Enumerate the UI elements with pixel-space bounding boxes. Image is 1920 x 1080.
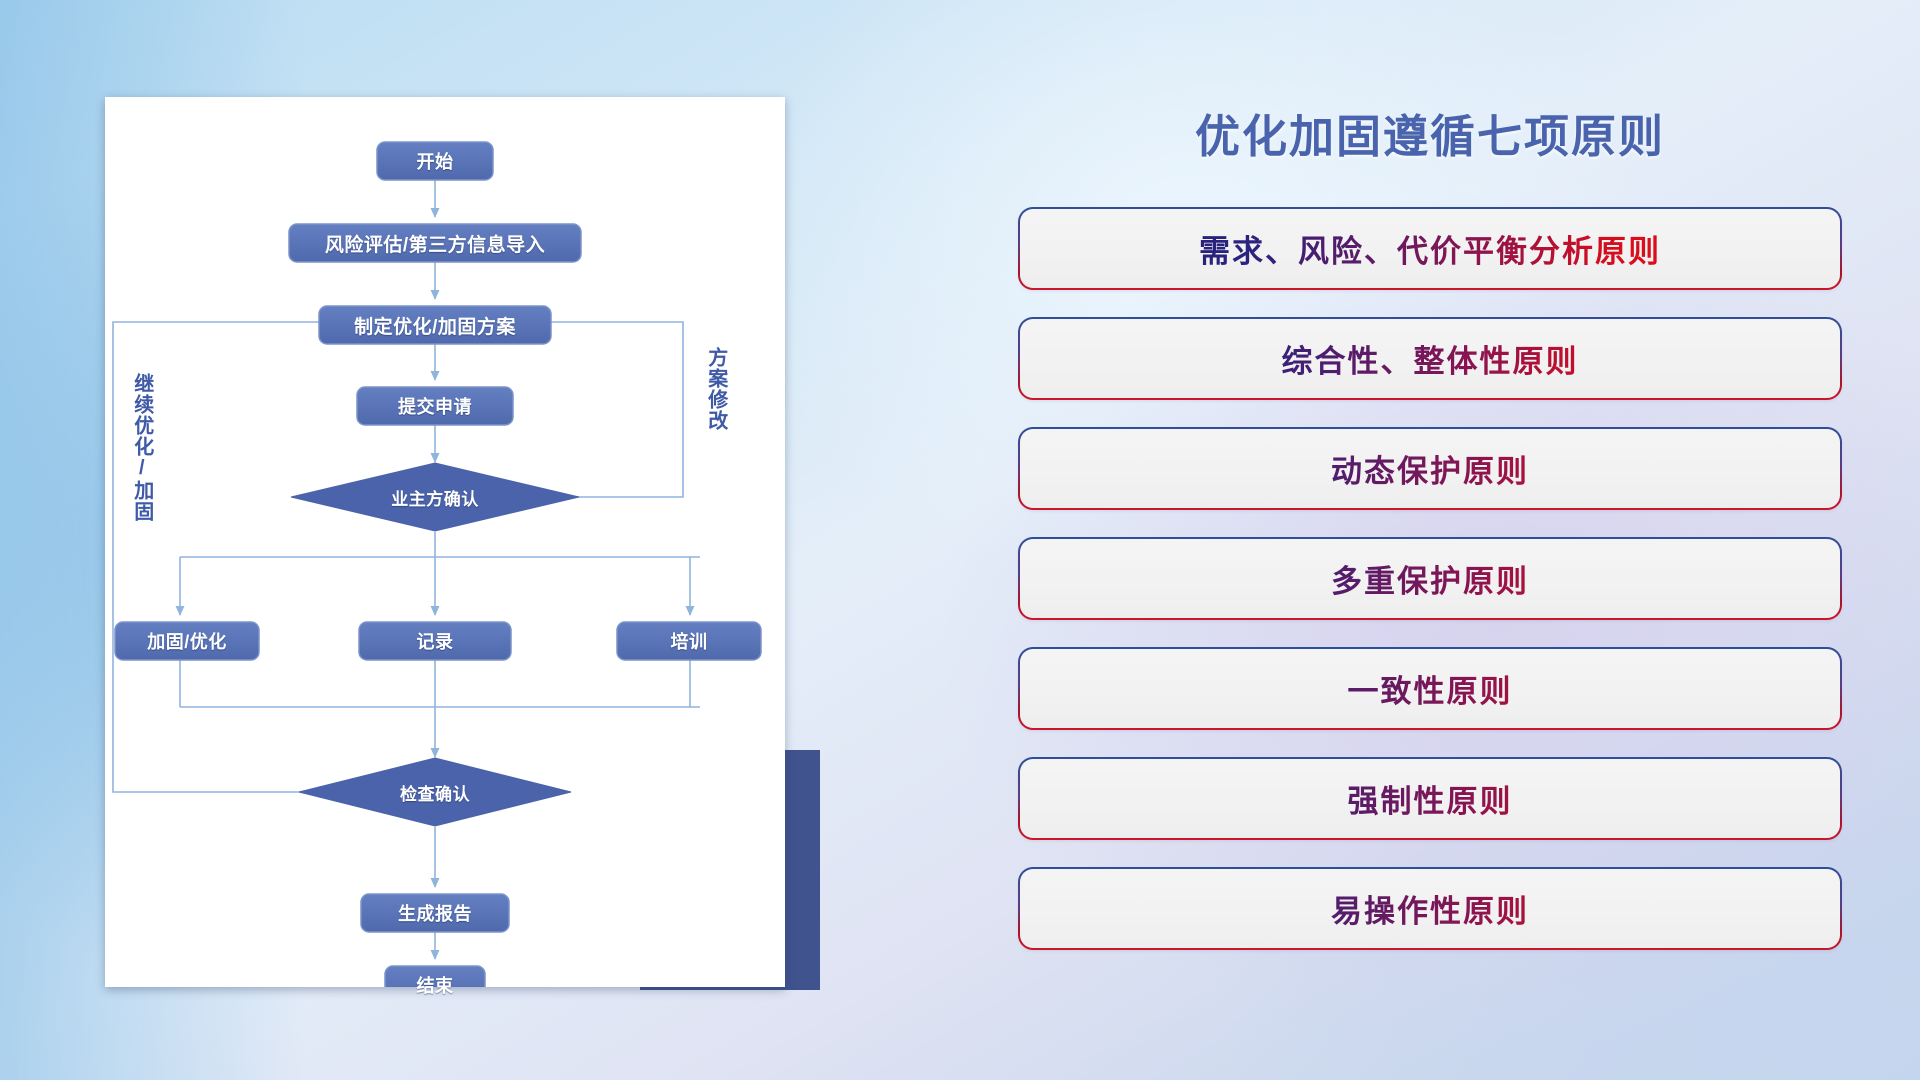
node-owner [291, 463, 579, 531]
principle-card[interactable]: 综合性、整体性原则 [1020, 319, 1840, 398]
principle-label: 动态保护原则 [1020, 429, 1840, 508]
node-report [361, 894, 509, 932]
principle-card[interactable]: 多重保护原则 [1020, 539, 1840, 618]
node-risk [289, 224, 581, 262]
edge-label-right-loop: 方案修改 [705, 347, 726, 431]
flowchart-connectors [105, 97, 785, 987]
principle-label: 强制性原则 [1020, 759, 1840, 838]
node-train [617, 622, 761, 660]
principle-card[interactable]: 动态保护原则 [1020, 429, 1840, 508]
edge-label-left-loop: 继续优化/加固 [131, 373, 152, 522]
node-record [359, 622, 511, 660]
principles-panel: 优化加固遵循七项原则 需求、风险、代价平衡分析原则 综合性、整体性原则 动态保护… [1020, 100, 1840, 979]
principle-card[interactable]: 一致性原则 [1020, 649, 1840, 728]
flowchart: 开始 风险评估/第三方信息导入 制定优化/加固方案 提交申请 业主方确认 加固/… [105, 97, 785, 987]
principle-label: 需求、风险、代价平衡分析原则 [1020, 209, 1840, 288]
principle-label: 一致性原则 [1020, 649, 1840, 728]
node-plan [319, 306, 551, 344]
principle-card[interactable]: 易操作性原则 [1020, 869, 1840, 948]
node-check [299, 758, 571, 826]
node-reinf [115, 622, 259, 660]
principle-card[interactable]: 强制性原则 [1020, 759, 1840, 838]
panel-title: 优化加固遵循七项原则 [1020, 100, 1840, 165]
principle-label: 易操作性原则 [1020, 869, 1840, 948]
node-start [377, 142, 493, 180]
node-end [385, 966, 485, 987]
principle-card[interactable]: 需求、风险、代价平衡分析原则 [1020, 209, 1840, 288]
principle-label: 多重保护原则 [1020, 539, 1840, 618]
principle-label: 综合性、整体性原则 [1020, 319, 1840, 398]
node-submit [357, 387, 513, 425]
flowchart-card: 开始 风险评估/第三方信息导入 制定优化/加固方案 提交申请 业主方确认 加固/… [105, 97, 785, 987]
